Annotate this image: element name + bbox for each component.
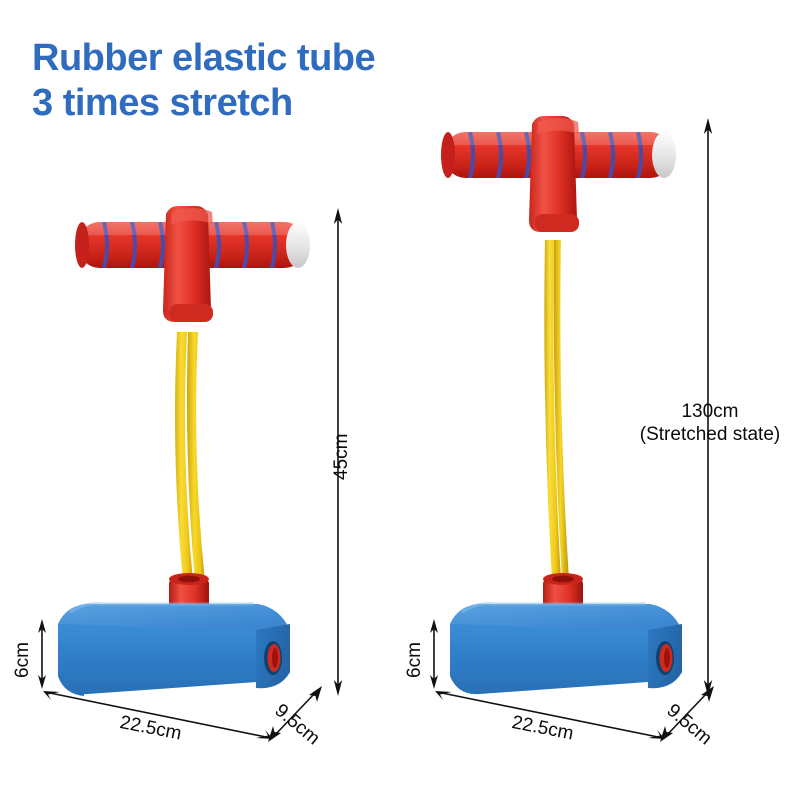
elastic-tube-stretched	[530, 240, 580, 582]
infographic-canvas: Rubber elastic tube 3 times stretch	[0, 0, 800, 800]
height-value-stretched: 130cm	[681, 401, 738, 422]
dimension-label-base-height-stretched: 6cm	[404, 642, 426, 678]
handle-end-cap	[286, 222, 310, 268]
pogo-jumper-compressed: 45cm 6cm 22.5cm 9	[0, 0, 400, 800]
handle-t-connector	[163, 206, 213, 322]
height-note-stretched: (Stretched state)	[621, 423, 799, 446]
dimension-base-height-stretched	[424, 618, 444, 690]
dimension-base-height-compressed	[32, 618, 52, 690]
dimension-label-height-compressed: 45cm	[331, 434, 353, 480]
handle-assembly-stretched	[436, 110, 696, 260]
handle-end-cap	[652, 132, 676, 178]
dimension-label-base-height-compressed: 6cm	[12, 642, 34, 678]
handle-assembly-compressed	[70, 200, 330, 350]
dimension-label-height-stretched: 130cm (Stretched state)	[621, 400, 799, 446]
pogo-jumper-stretched: 130cm (Stretched state) 6cm 22.5cm	[400, 0, 800, 800]
elastic-tube-compressed	[160, 332, 220, 584]
handle-t-connector	[529, 116, 579, 232]
